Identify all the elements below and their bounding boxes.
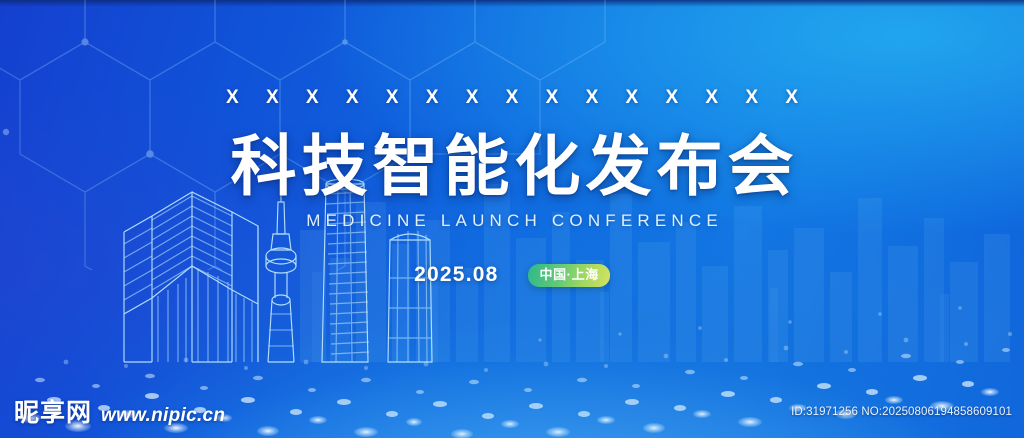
placeholder-text-row: X X X X X X X X X X X X X X X [0, 88, 1024, 107]
watermark-url[interactable]: www.nipic.cn [101, 405, 225, 427]
conference-banner: X X X X X X X X X X X X X X X 科技智能化发布会 M… [0, 0, 1024, 438]
meta-row: 2025.08 中国·上海 [0, 263, 1024, 287]
subtitle: MEDICINE LAUNCH CONFERENCE [0, 212, 1024, 229]
banner-content: X X X X X X X X X X X X X X X 科技智能化发布会 M… [0, 0, 1024, 287]
event-date: 2025.08 [414, 263, 498, 287]
watermark-brand[interactable]: 昵享网 www.nipic.cn [14, 393, 225, 429]
watermark-logo-text: 昵享网 [14, 393, 92, 429]
page-title: 科技智能化发布会 [0, 131, 1024, 202]
location-badge: 中国·上海 [528, 264, 609, 287]
asset-id-label: ID:31971256 NO:20250806194858609101 [791, 406, 1012, 418]
